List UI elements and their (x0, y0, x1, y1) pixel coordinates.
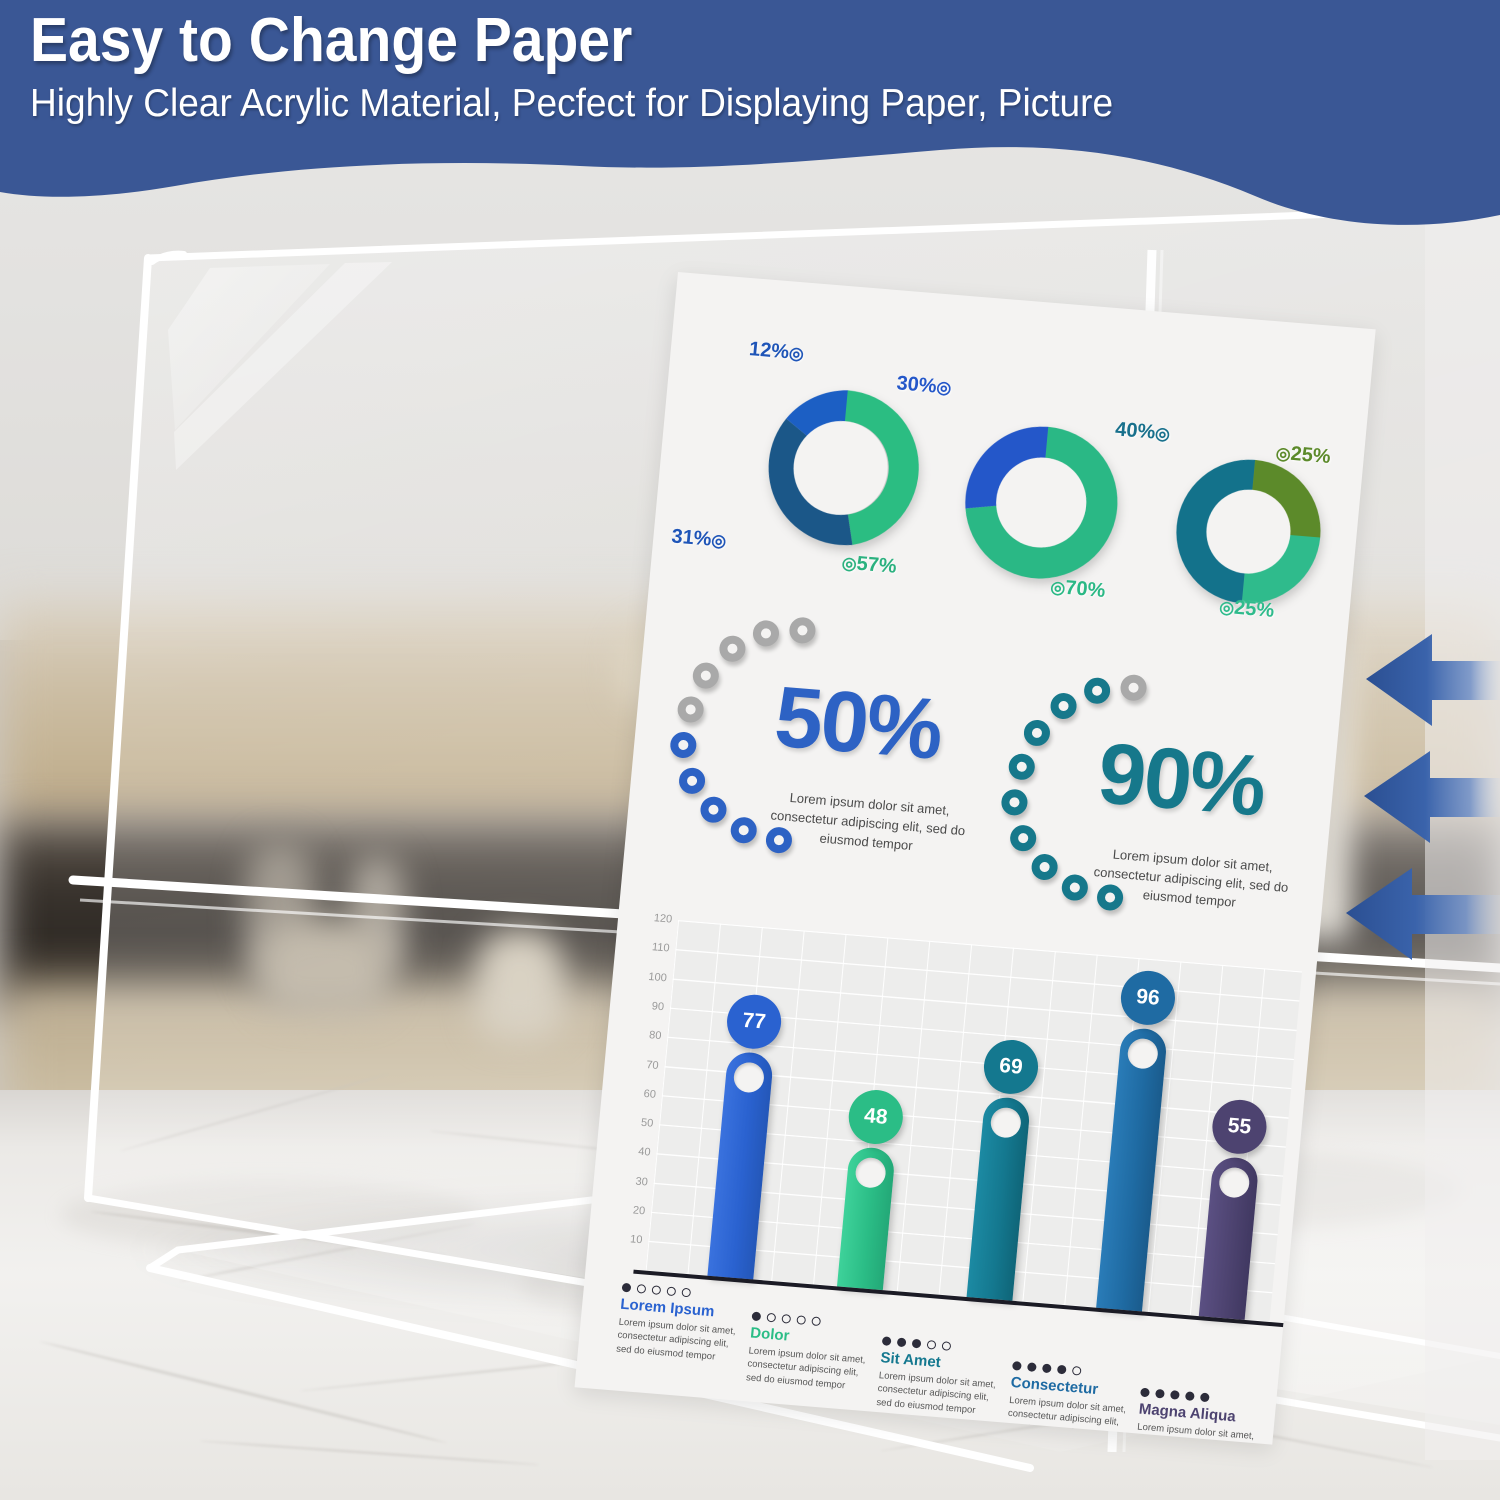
callout-arrow-3 (1346, 868, 1500, 960)
callout-arrow-2 (1364, 751, 1500, 843)
callout-arrow-1 (1366, 634, 1500, 726)
callout-arrows (0, 0, 1500, 1500)
